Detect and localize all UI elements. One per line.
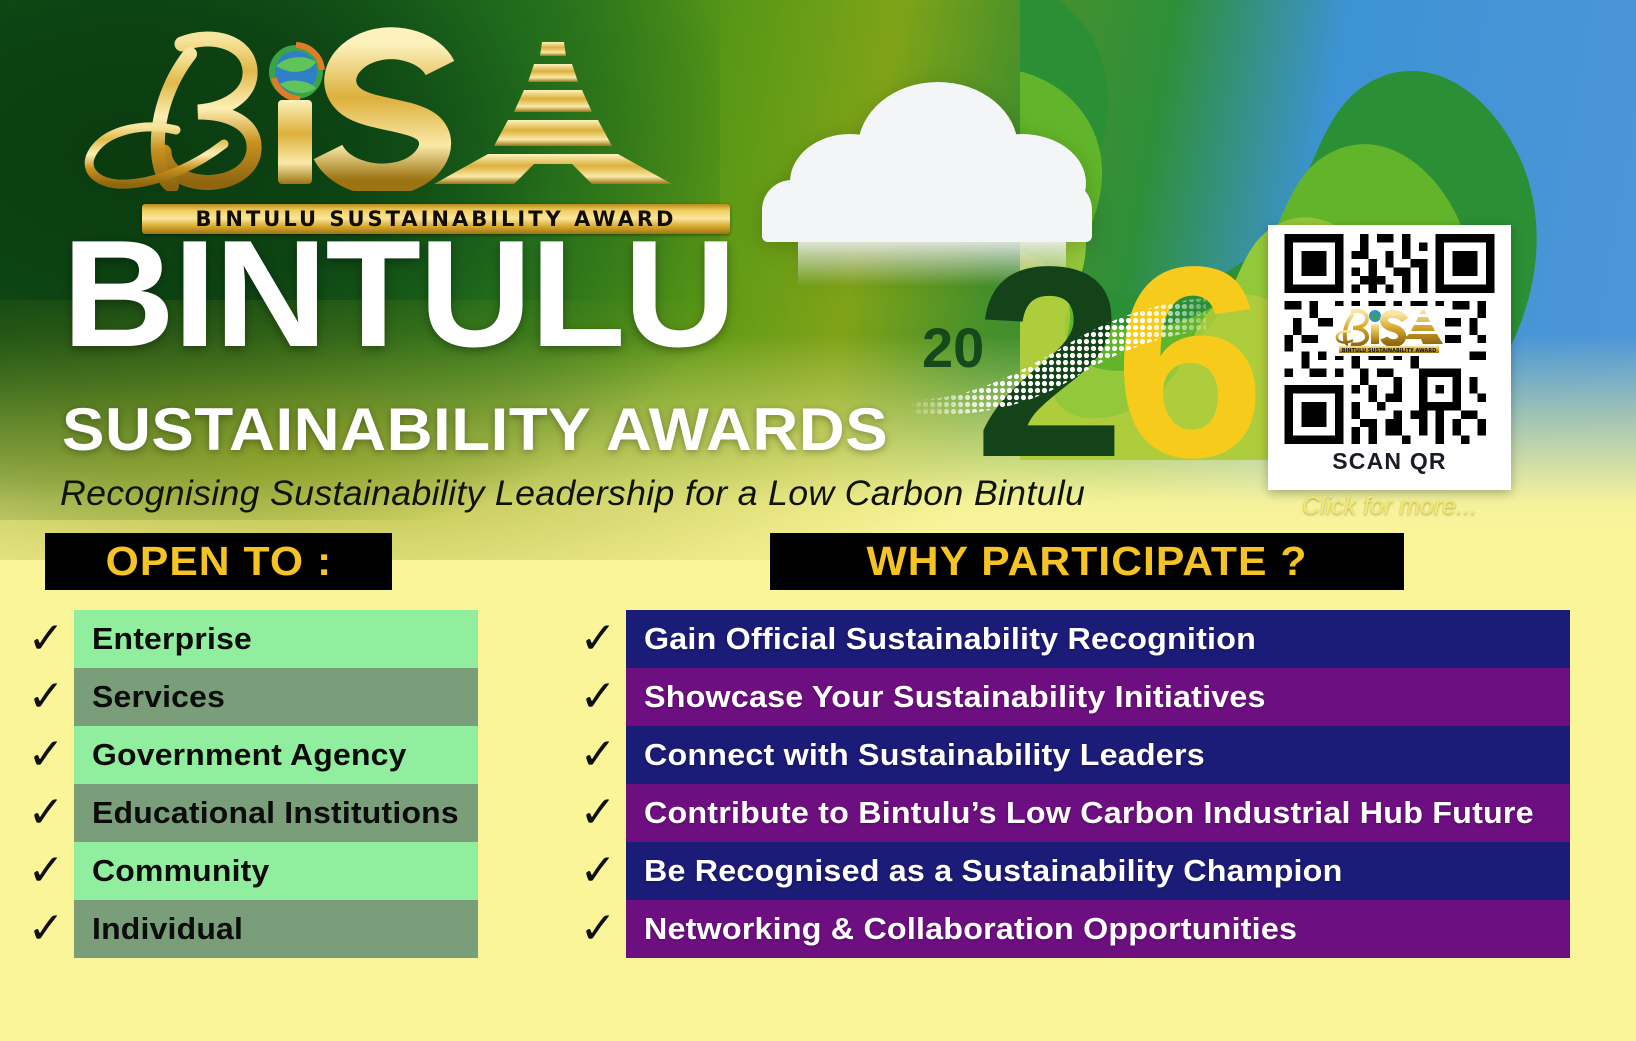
open-to-item-label: Individual — [92, 911, 243, 947]
checkmark-icon: ✓ — [570, 610, 626, 668]
year-digit-6: 6 — [1114, 226, 1259, 498]
open-to-item-label: Government Agency — [92, 737, 407, 773]
open-to-item-label: Enterprise — [92, 621, 252, 657]
poster-canvas: BINTULU SUSTAINABILITY AWARD BINTULU SUS… — [0, 0, 1636, 1041]
qr-click-for-more-link[interactable]: Click for more... — [1268, 492, 1511, 521]
open-to-list: ✓Enterprise✓Services✓Government Agency✓E… — [18, 610, 478, 958]
open-to-item-row: ✓Community — [18, 842, 478, 900]
logo-letter-b — [89, 39, 254, 186]
checkmark-icon: ✓ — [570, 668, 626, 726]
checkmark-icon: ✓ — [18, 900, 74, 958]
year-digit-2: 2 — [974, 226, 1119, 498]
why-participate-item-row: ✓Gain Official Sustainability Recognitio… — [570, 610, 1570, 668]
why-participate-item-bar: Showcase Your Sustainability Initiatives — [626, 668, 1570, 726]
qr-embedded-logo-icon: BINTULU SUSTAINABILITY AWARD — [1333, 306, 1445, 356]
why-participate-header: WHY PARTICIPATE ? — [770, 533, 1404, 590]
open-to-item-row: ✓Services — [18, 668, 478, 726]
why-participate-item-row: ✓Connect with Sustainability Leaders — [570, 726, 1570, 784]
open-to-item-bar: Educational Institutions — [74, 784, 478, 842]
open-to-item-bar: Individual — [74, 900, 478, 958]
open-to-item-bar: Government Agency — [74, 726, 478, 784]
open-to-header-text: OPEN TO : — [105, 538, 332, 585]
why-participate-item-row: ✓Contribute to Bintulu’s Low Carbon Indu… — [570, 784, 1570, 842]
open-to-header: OPEN TO : — [45, 533, 392, 590]
page-subtitle: SUSTAINABILITY AWARDS — [62, 400, 888, 460]
checkmark-icon: ✓ — [570, 900, 626, 958]
year-prefix: 20 — [922, 320, 984, 376]
why-participate-item-label: Be Recognised as a Sustainability Champi… — [644, 853, 1342, 889]
bisa-logo[interactable]: BINTULU SUSTAINABILITY AWARD — [72, 26, 672, 216]
bisa-logo-mark — [72, 26, 672, 176]
checkmark-icon: ✓ — [570, 726, 626, 784]
checkmark-icon: ✓ — [18, 668, 74, 726]
qr-card[interactable]: BINTULU SUSTAINABILITY AWARD SCAN QR — [1268, 225, 1511, 490]
why-participate-item-label: Contribute to Bintulu’s Low Carbon Indus… — [644, 795, 1534, 831]
checkmark-icon: ✓ — [18, 726, 74, 784]
page-title: BINTULU — [62, 218, 735, 370]
open-to-item-row: ✓Government Agency — [18, 726, 478, 784]
globe-icon — [269, 45, 323, 99]
open-to-item-row: ✓Enterprise — [18, 610, 478, 668]
checkmark-icon: ✓ — [570, 842, 626, 900]
svg-text:BINTULU SUSTAINABILITY AWARD: BINTULU SUSTAINABILITY AWARD — [1342, 348, 1437, 354]
open-to-item-row: ✓Individual — [18, 900, 478, 958]
why-participate-item-label: Showcase Your Sustainability Initiatives — [644, 679, 1266, 715]
open-to-item-row: ✓Educational Institutions — [18, 784, 478, 842]
qr-caption: SCAN QR — [1277, 448, 1502, 475]
checkmark-icon: ✓ — [18, 784, 74, 842]
why-participate-item-bar: Contribute to Bintulu’s Low Carbon Indus… — [626, 784, 1570, 842]
pyramid-icon — [434, 42, 672, 184]
why-participate-item-row: ✓Showcase Your Sustainability Initiative… — [570, 668, 1570, 726]
open-to-item-bar: Enterprise — [74, 610, 478, 668]
why-participate-item-bar: Be Recognised as a Sustainability Champi… — [626, 842, 1570, 900]
open-to-item-label: Educational Institutions — [92, 795, 459, 831]
why-participate-item-label: Networking & Collaboration Opportunities — [644, 911, 1297, 947]
open-to-item-bar: Community — [74, 842, 478, 900]
checkmark-icon: ✓ — [18, 610, 74, 668]
why-participate-item-label: Gain Official Sustainability Recognition — [644, 621, 1256, 657]
why-participate-item-label: Connect with Sustainability Leaders — [644, 737, 1205, 773]
why-participate-item-row: ✓Be Recognised as a Sustainability Champ… — [570, 842, 1570, 900]
why-participate-header-text: WHY PARTICIPATE ? — [867, 538, 1308, 585]
checkmark-icon: ✓ — [570, 784, 626, 842]
year-graphic: 2 6 20 — [908, 232, 1208, 494]
why-participate-list: ✓Gain Official Sustainability Recognitio… — [570, 610, 1570, 958]
why-participate-item-bar: Networking & Collaboration Opportunities — [626, 900, 1570, 958]
open-to-item-label: Community — [92, 853, 269, 889]
logo-letter-i — [278, 100, 312, 184]
logo-letter-s — [328, 43, 440, 179]
checkmark-icon: ✓ — [18, 842, 74, 900]
qr-code[interactable]: BINTULU SUSTAINABILITY AWARD — [1277, 234, 1502, 444]
open-to-item-label: Services — [92, 679, 225, 715]
why-participate-item-bar: Connect with Sustainability Leaders — [626, 726, 1570, 784]
open-to-item-bar: Services — [74, 668, 478, 726]
why-participate-item-row: ✓Networking & Collaboration Opportunitie… — [570, 900, 1570, 958]
why-participate-item-bar: Gain Official Sustainability Recognition — [626, 610, 1570, 668]
